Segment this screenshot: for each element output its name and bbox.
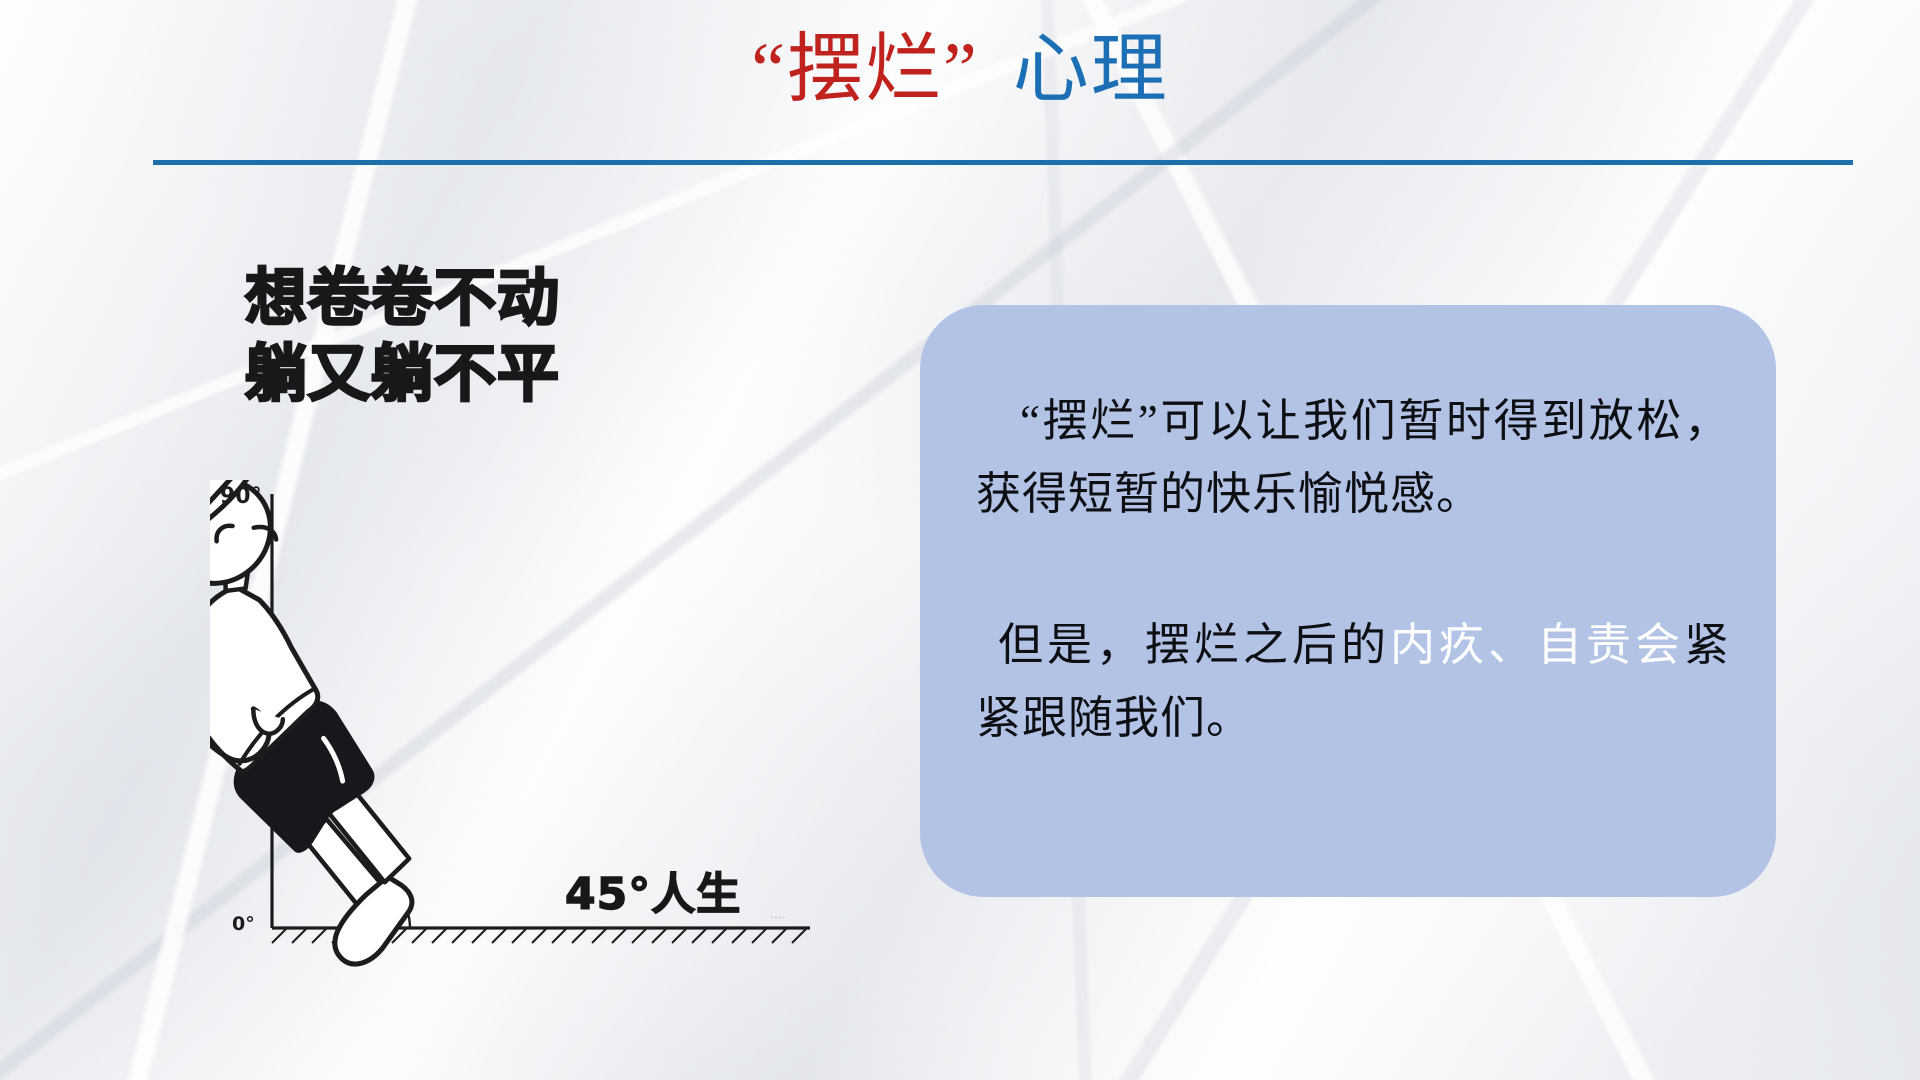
page-title: “摆烂”心理 — [0, 26, 1920, 116]
angle-chart-svg — [210, 480, 850, 970]
axis-label-90deg: 90° — [220, 484, 262, 509]
axis-label-0deg: 0° — [232, 913, 255, 935]
image-watermark: ···· — [770, 912, 786, 924]
meme-slogan: 想卷卷不动 躺又躺不平 — [245, 260, 805, 411]
chart-caption-45-life: 45°人生 — [565, 858, 741, 922]
explanation-paragraph-1: “摆烂”可以让我们暂时得到放松，获得短暂的快乐愉悦感。 — [976, 385, 1730, 531]
title-underline-rule — [153, 160, 1853, 165]
page-title-quoted-term: “摆烂” — [751, 28, 978, 112]
meme-illustration: 想卷卷不动 躺又躺不平 — [190, 245, 870, 980]
slide-root: “摆烂”心理 想卷卷不动 躺又躺不平 — [0, 0, 1920, 1080]
explanation-paragraph-2: 但是，摆烂之后的内疚、自责会紧紧跟随我们。 — [976, 609, 1730, 755]
explanation-paragraph-2-highlight: 内疚、自责会 — [1390, 620, 1684, 670]
page-title-suffix: 心理 — [1013, 28, 1169, 112]
explanation-paragraph-2-prefix: 但是，摆烂之后的 — [998, 620, 1390, 670]
meme-slogan-line-1: 想卷卷不动 — [245, 260, 805, 336]
explanation-card: “摆烂”可以让我们暂时得到放松，获得短暂的快乐愉悦感。 但是，摆烂之后的内疚、自… — [920, 305, 1776, 897]
leaning-figure — [210, 480, 571, 970]
meme-slogan-line-2: 躺又躺不平 — [245, 336, 805, 412]
angle-chart: 90° 0° 45°人生 ···· — [210, 480, 850, 970]
